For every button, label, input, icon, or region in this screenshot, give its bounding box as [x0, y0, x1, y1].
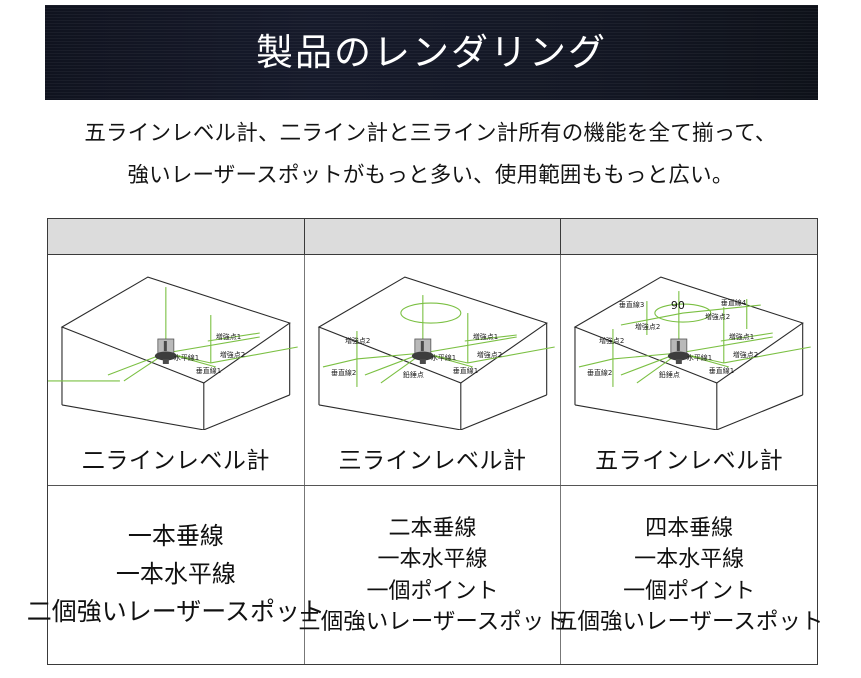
diagram-cell-three-line: 増強点2 垂直線2 増強点1 増強点2 水平線1 垂直線1 鉛錘点 [304, 255, 561, 430]
page-title: 製品のレンダリング [256, 34, 607, 71]
table-spec-row: 一本垂線 一本水平線 二個強いレーザースポット 二本垂線 一本水平線 一個ポイン… [48, 486, 817, 664]
header-cell-3 [560, 219, 817, 254]
diagram-labels: 増強点1 増強点2 水平線1 垂直線1 [174, 332, 245, 375]
subtitle-line-1: 五ラインレベル計、二ライン計と三ライン計所有の機能を全て揃って、 [0, 112, 861, 154]
label-horizontal-line-1: 水平線1 [431, 353, 456, 362]
spec-line: 一個ポイント [367, 575, 499, 606]
label-vertical-line-3: 垂直線3 [619, 300, 644, 309]
spec-line: 三個強いレーザースポット [298, 606, 566, 638]
table-header-row [48, 219, 817, 255]
label-enhanced-point-1: 増強点1 [729, 332, 754, 341]
label-vertical-line-1: 垂直線1 [452, 366, 477, 375]
product-name-three-line: 三ラインレベル計 [339, 441, 527, 475]
diagram-two-line: 増強点1 増強点2 水平線1 垂直線1 [48, 255, 304, 430]
product-rendering-page: 製品のレンダリング 五ラインレベル計、二ライン計と三ライン計所有の機能を全て揃っ… [0, 0, 861, 678]
label-horizontal-line-1: 水平線1 [174, 353, 199, 362]
label-enhanced-point-2-left: 増強点2 [599, 336, 624, 345]
label-plumb-point: 鉛錘点 [659, 370, 680, 379]
name-cell-two-line: 二ラインレベル計 [48, 430, 304, 485]
diagram-cell-five-line: 垂直線3 垂直線4 増強点2 増強点2 増強点2 垂直線2 増強点1 増強点2 … [560, 255, 817, 430]
spec-line: 四本垂線 [645, 512, 733, 543]
ceiling-point-ellipse [401, 303, 461, 323]
spec-cell-two-line: 一本垂線 一本水平線 二個強いレーザースポット [48, 486, 304, 664]
label-enhanced-point-2-right: 増強点2 [705, 312, 730, 321]
diagram-five-line: 垂直線3 垂直線4 増強点2 増強点2 増強点2 垂直線2 増強点1 増強点2 … [561, 255, 817, 430]
header-banner: 製品のレンダリング [45, 5, 818, 100]
product-name-five-line: 五ラインレベル計 [595, 441, 783, 475]
spec-line: 一本水平線 [634, 543, 744, 574]
label-enhanced-point-2: 増強点2 [476, 350, 501, 359]
label-horizontal-line-1: 水平線1 [687, 353, 712, 362]
spec-cell-three-line: 二本垂線 一本水平線 一個ポイント 三個強いレーザースポット [304, 486, 561, 664]
label-enhanced-point-2-left: 増強点2 [345, 336, 370, 345]
label-vertical-line-1: 垂直線1 [196, 366, 221, 375]
header-cell-1 [48, 219, 304, 254]
header-cell-2 [304, 219, 561, 254]
label-enhanced-point-1: 増強点1 [216, 332, 241, 341]
subtitle-block: 五ラインレベル計、二ライン計と三ライン計所有の機能を全て揃って、 強いレーザース… [0, 112, 861, 196]
comparison-table: 増強点1 増強点2 水平線1 垂直線1 [47, 218, 818, 665]
spec-line: 一本垂線 [128, 518, 224, 555]
label-enhanced-point-1: 増強点1 [472, 332, 497, 341]
spec-cell-five-line: 四本垂線 一本水平線 一個ポイント 五個強いレーザースポット [560, 486, 817, 664]
name-cell-three-line: 三ラインレベル計 [304, 430, 561, 485]
spec-line: 五個強いレーザースポット [555, 606, 823, 638]
label-vertical-line-2: 垂直線2 [587, 368, 612, 377]
label-vertical-line-2: 垂直線2 [331, 368, 356, 377]
spec-line: 一本水平線 [116, 556, 236, 593]
label-enhanced-point-2-mid: 増強点2 [635, 322, 660, 331]
spec-line: 二個強いレーザースポット [27, 593, 325, 632]
subtitle-line-2: 強いレーザースポットがもっと多い、使用範囲ももっと広い。 [0, 154, 861, 196]
label-enhanced-point-2: 増強点2 [220, 350, 245, 359]
label-plumb-point: 鉛錘点 [403, 370, 424, 379]
name-cell-five-line: 五ラインレベル計 [560, 430, 817, 485]
spec-line: 一本水平線 [378, 543, 488, 574]
table-diagram-row: 増強点1 増強点2 水平線1 垂直線1 [48, 255, 817, 430]
laser-lines [48, 287, 298, 381]
spec-line: 一個ポイント [623, 575, 755, 606]
diagram-three-line: 増強点2 垂直線2 増強点1 増強点2 水平線1 垂直線1 鉛錘点 [305, 255, 561, 430]
product-name-two-line: 二ラインレベル計 [82, 441, 270, 475]
table-name-row: 二ラインレベル計 三ラインレベル計 五ラインレベル計 [48, 430, 817, 486]
spec-line: 二本垂線 [389, 512, 477, 543]
diagram-cell-two-line: 増強点1 増強点2 水平線1 垂直線1 [48, 255, 304, 430]
label-vertical-line-1: 垂直線1 [709, 366, 734, 375]
label-enhanced-point-2: 増強点2 [733, 350, 758, 359]
label-vertical-line-4: 垂直線4 [721, 298, 747, 307]
label-angle-90: 90 [671, 299, 685, 312]
